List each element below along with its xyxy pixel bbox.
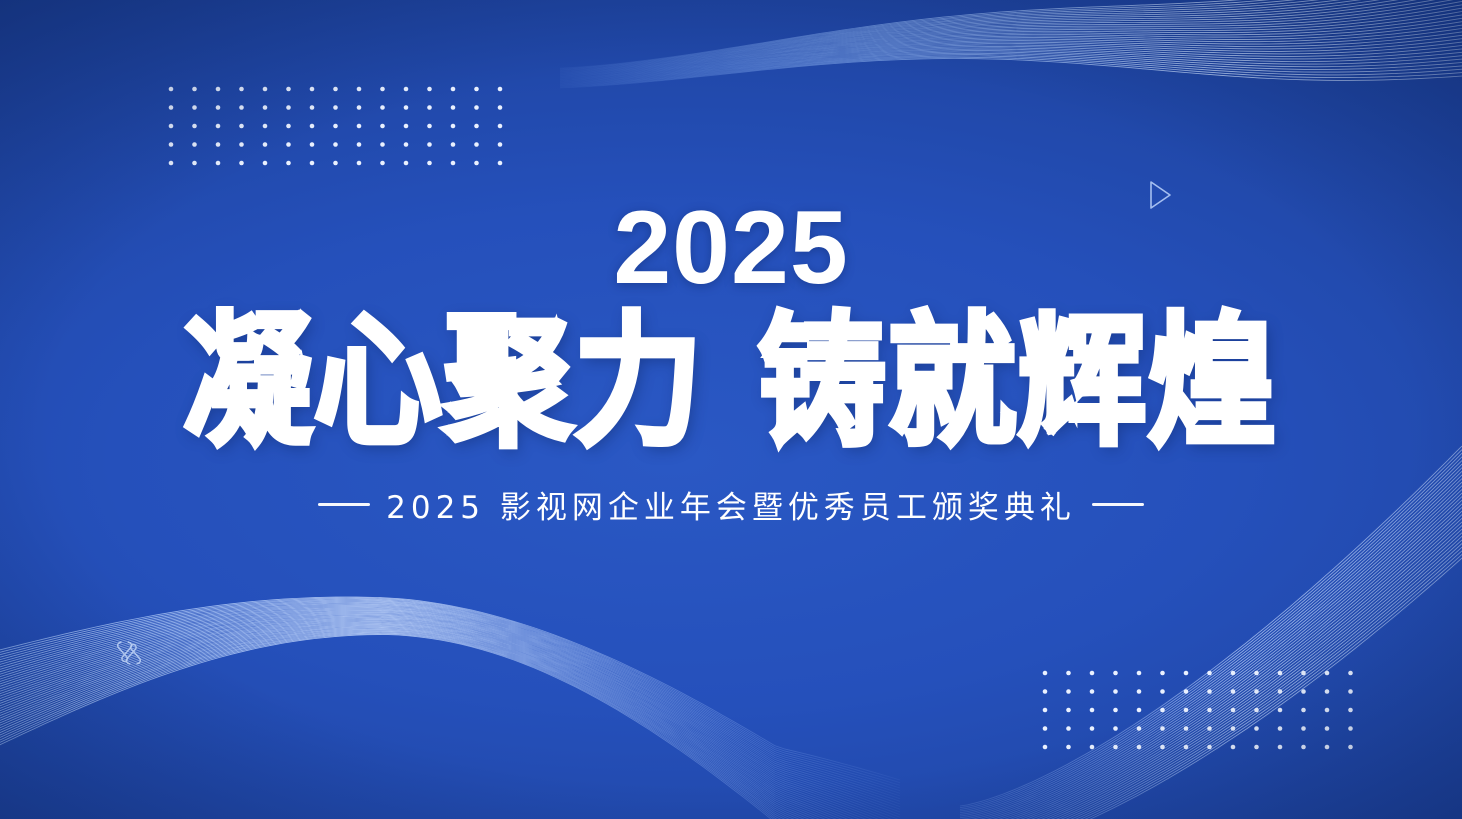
subtitle-rule-right [1092,503,1144,506]
headline-part-one: 凝心聚力 [184,299,704,466]
subtitle-row: 2025 影视网企业年会暨优秀员工颁奖典礼 [318,482,1144,527]
poster-canvas: 2025 凝心聚力铸就辉煌 2025 影视网企业年会暨优秀员工颁奖典礼 [0,0,1462,819]
headline: 凝心聚力铸就辉煌 [184,306,1278,461]
year-heading: 2025 [613,196,848,300]
headline-part-two: 铸就辉煌 [758,299,1278,466]
subtitle-text: 2025 影视网企业年会暨优秀员工颁奖典礼 [386,482,1076,527]
poster-content: 2025 凝心聚力铸就辉煌 2025 影视网企业年会暨优秀员工颁奖典礼 [0,0,1462,819]
subtitle-rule-left [318,503,370,506]
